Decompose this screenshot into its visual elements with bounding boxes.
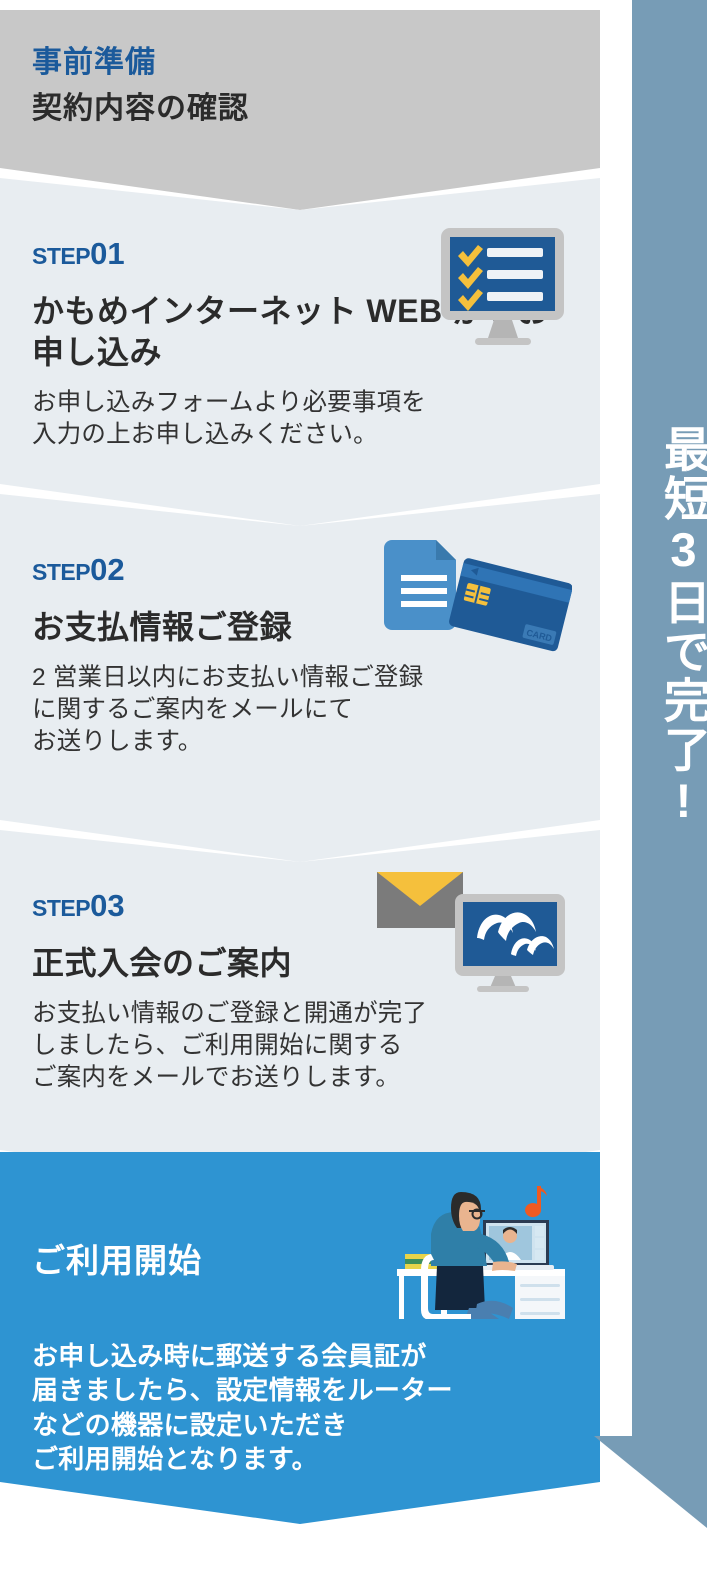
step-label-01: STEP01 <box>32 238 568 269</box>
step-label-number: 02 <box>90 552 124 587</box>
step-label-word: STEP <box>32 895 90 921</box>
step-body-01: お申し込みフォームより必要事項を 入力の上お申し込みください。 <box>32 387 568 451</box>
step-label-02: STEP02 <box>32 554 568 585</box>
process-flow-column: 事前準備 契約内容の確認 STEP01 かもめインターネット WEB からお申し… <box>0 0 600 1576</box>
step-panel-01: STEP01 かもめインターネット WEB からお申し込み お申し込みフォームよ… <box>0 178 600 526</box>
step-label-word: STEP <box>32 559 90 585</box>
final-title: ご利用開始 <box>32 1244 568 1277</box>
step-label-number: 03 <box>90 888 124 923</box>
step-panel-02: STEP02 お支払情報ご登録 2 営業日以内にお支払い情報ご登録 に関するご案… <box>0 494 600 862</box>
duration-arrow-icon <box>594 1436 707 1528</box>
preparation-eyebrow: 事前準備 <box>32 44 568 82</box>
step-body-02: 2 営業日以内にお支払い情報ご登録 に関するご案内をメールにて お送りします。 <box>32 662 568 758</box>
step-title-02: お支払情報ご登録 <box>32 607 568 648</box>
step-panel-03: STEP03 正式入会のご案内 お支払い情報のご登録と開通が完了 しましたら、ご… <box>0 830 600 1192</box>
preparation-panel: 事前準備 契約内容の確認 <box>0 10 600 210</box>
step-title-01: かもめインターネット WEB からお申し込み <box>32 291 568 373</box>
final-panel: ご利用開始 お申し込み時に郵送する会員証が 届きましたら、設定情報をルーター な… <box>0 1152 600 1524</box>
step-label-word: STEP <box>32 243 90 269</box>
step-title-03: 正式入会のご案内 <box>32 943 568 984</box>
preparation-title: 契約内容の確認 <box>32 90 568 128</box>
step-label-number: 01 <box>90 236 124 271</box>
step-label-03: STEP03 <box>32 890 568 921</box>
final-body: お申し込み時に郵送する会員証が 届きましたら、設定情報をルーター などの機器に設… <box>32 1339 568 1476</box>
step-body-03: お支払い情報のご登録と開通が完了 しましたら、ご利用開始に関する ご案内をメール… <box>32 998 568 1094</box>
duration-text: 最短3日で完了! <box>632 425 707 855</box>
